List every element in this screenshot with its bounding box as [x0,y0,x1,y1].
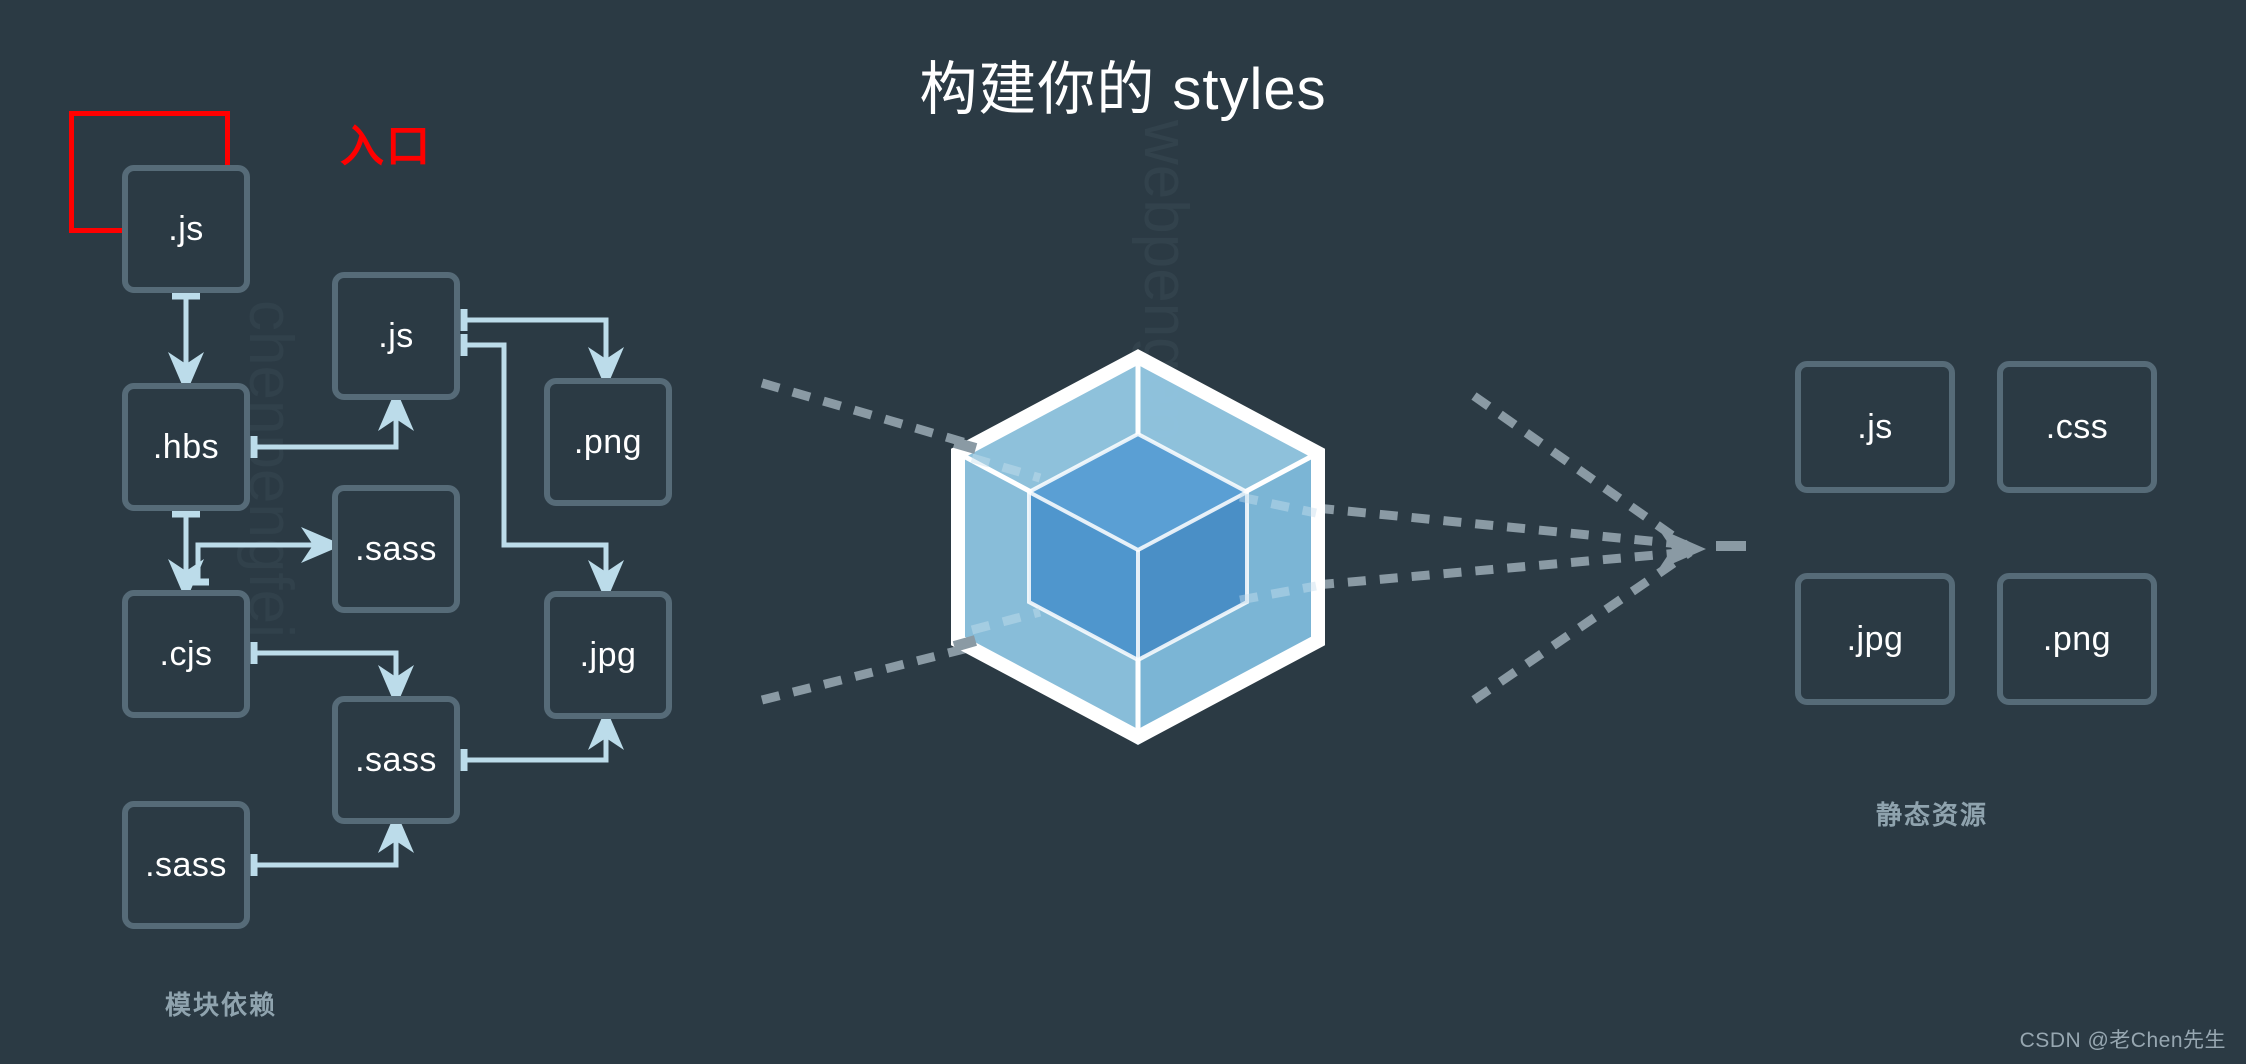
file-box-label: .hbs [153,428,219,467]
file-box-cjs[interactable]: .cjs [122,590,250,718]
caption-static-assets: 静态资源 [1876,795,1988,832]
watermark-vertical: webpengengfei [1075,120,1195,541]
file-box-png-left[interactable]: .png [544,378,672,506]
csdn-watermark: CSDN @老Chen先生 [2020,1024,2226,1054]
asset-box-jpg[interactable]: .jpg [1795,573,1955,705]
file-box-hbs[interactable]: .hbs [122,383,250,511]
file-box-label: .sass [355,530,437,569]
file-box-label: .cjs [160,635,213,674]
file-box-js-2[interactable]: .js [332,272,460,400]
asset-box-js[interactable]: .js [1795,361,1955,493]
caption-module-dependency: 模块依赖 [165,985,277,1022]
asset-box-png[interactable]: .png [1997,573,2157,705]
asset-box-css[interactable]: .css [1997,361,2157,493]
file-box-sass-1[interactable]: .sass [332,485,460,613]
asset-box-label: .png [2043,620,2111,659]
file-box-js-entry[interactable]: .js [122,165,250,293]
bundler-output-streams [1316,396,1690,700]
file-box-label: .js [378,317,414,356]
file-box-label: .jpg [580,636,637,675]
asset-box-label: .jpg [1847,620,1904,659]
cube-edge-nubs [953,437,977,652]
file-box-label: .js [168,210,204,249]
asset-box-label: .js [1857,408,1893,447]
page-title: 构建你的 styles [0,42,2246,126]
file-box-sass-3[interactable]: .sass [122,801,250,929]
file-box-label: .png [574,423,642,462]
output-arrowhead [1658,528,1746,570]
bundler-input-streams [762,383,980,700]
asset-box-label: .css [2046,408,2108,447]
file-box-sass-2[interactable]: .sass [332,696,460,824]
file-box-jpg-left[interactable]: .jpg [544,591,672,719]
file-box-label: .sass [145,846,227,885]
diagram-canvas: webpengengfei chenpengfei 构建你的 styles [0,0,2246,1064]
entry-label: 入口 [340,110,432,174]
file-box-label: .sass [355,741,437,780]
